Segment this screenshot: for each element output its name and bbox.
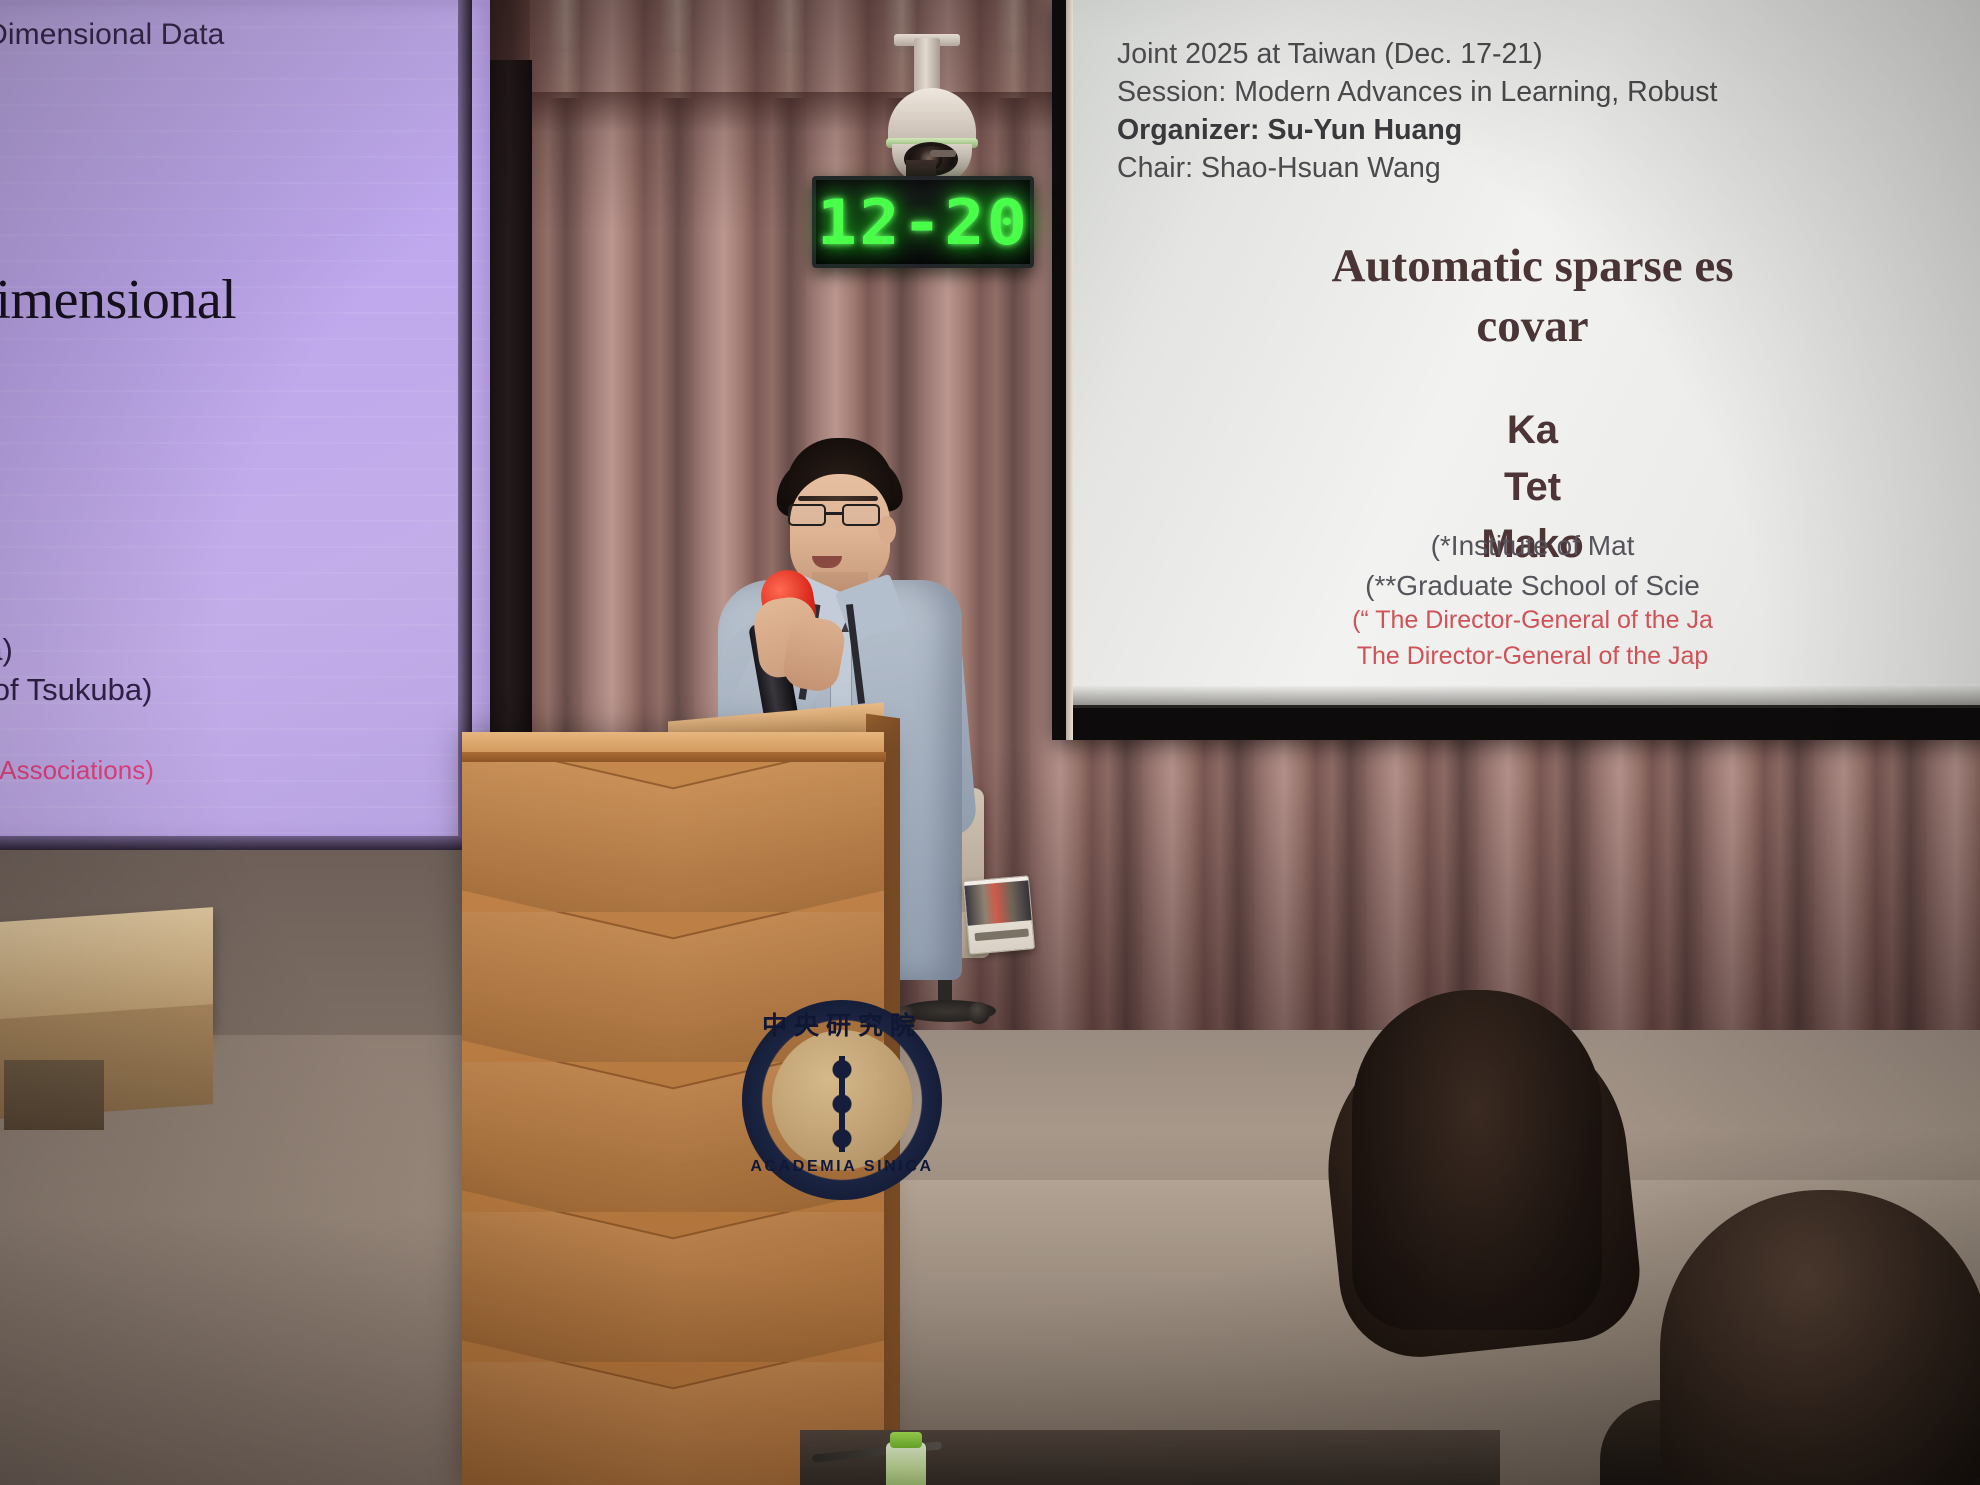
security-camera-arm — [914, 38, 940, 94]
slide-title-line-2: covar — [1073, 298, 1980, 354]
session-chair-line: Chair: Shao-Hsuan Wang — [1117, 150, 1980, 188]
name-badge-icon — [963, 875, 1035, 954]
right-projection-screen: Joint 2025 at Taiwan (Dec. 17-21) Sessio… — [1073, 0, 1980, 705]
affiliation-2: (**Graduate School of Scie — [1073, 566, 1980, 606]
glasses-icon — [786, 504, 892, 526]
affiliation-1: (*Institute of Mat — [1073, 526, 1980, 566]
countdown-timer-display: 12-20 — [807, 180, 1038, 264]
podium-panel — [462, 1212, 884, 1362]
glasses-right-lens — [842, 504, 880, 526]
left-projection-screen: -Dimensional Data dimensional ba) ty of … — [0, 0, 490, 840]
name-badge-text-line — [974, 928, 1028, 941]
right-screen-bottom-shadow — [1073, 686, 1980, 708]
chair-wheel — [968, 1002, 990, 1024]
emblem-glyph — [830, 1056, 854, 1152]
emblem-chinese-text: 中央研究院 — [742, 1006, 942, 1042]
slide-affiliations: (*Institute of Mat (**Graduate School of… — [1073, 526, 1980, 606]
glasses-left-lens — [788, 504, 826, 526]
author-1: Ka — [1073, 402, 1980, 459]
wall-pillar — [486, 60, 532, 760]
glasses-bridge — [826, 512, 842, 515]
session-organizer-line: Organizer: Su-Yun Huang — [1117, 112, 1980, 150]
water-bottle — [886, 1442, 926, 1485]
audience-member-head — [1352, 990, 1602, 1330]
lecture-hall-scene: -Dimensional Data dimensional ba) ty of … — [0, 0, 1980, 1485]
left-screen-line-top: -Dimensional Data — [0, 18, 224, 52]
name-badge-graphic — [964, 880, 1033, 926]
disclaimer-line-2: The Director-General of the Jap — [1073, 638, 1980, 674]
left-screen-affiliation-2: ty of Tsukuba) — [0, 672, 152, 708]
countdown-timer: 12-20 — [812, 176, 1034, 268]
emblem-english-text: ACADEMIA SINICA — [742, 1158, 942, 1176]
left-screen-heading: dimensional — [0, 268, 236, 332]
side-table-leg — [4, 1060, 104, 1130]
session-name-line: Session: Modern Advances in Learning, Ro… — [1117, 74, 1980, 112]
speaker-eyebrows — [798, 496, 878, 501]
podium-panel — [462, 762, 884, 912]
slide-disclaimer: (“ The Director-General of the Ja The Di… — [1073, 602, 1980, 675]
left-screen-affiliation-1: ba) — [0, 632, 13, 668]
security-camera-tab — [930, 150, 956, 157]
academia-sinica-emblem: 中央研究院 ACADEMIA SINICA — [742, 1000, 942, 1200]
left-screen-note: ce Associations) — [0, 755, 154, 786]
session-conference-line: Joint 2025 at Taiwan (Dec. 17-21) — [1117, 36, 1980, 74]
podium-front-lip — [462, 752, 886, 762]
right-screen-header: Joint 2025 at Taiwan (Dec. 17-21) Sessio… — [1117, 36, 1980, 188]
audience-member-head-front — [1660, 1190, 1980, 1485]
author-2: Tet — [1073, 459, 1980, 516]
left-screen-bezel — [458, 0, 472, 848]
water-bottle-cap — [890, 1432, 922, 1448]
disclaimer-line-1: (“ The Director-General of the Ja — [1073, 602, 1980, 638]
slide-title-line-1: Automatic sparse es — [1331, 240, 1733, 292]
slide-title: Automatic sparse es covar — [1073, 238, 1980, 355]
right-screen-frame: Joint 2025 at Taiwan (Dec. 17-21) Sessio… — [1052, 0, 1980, 740]
